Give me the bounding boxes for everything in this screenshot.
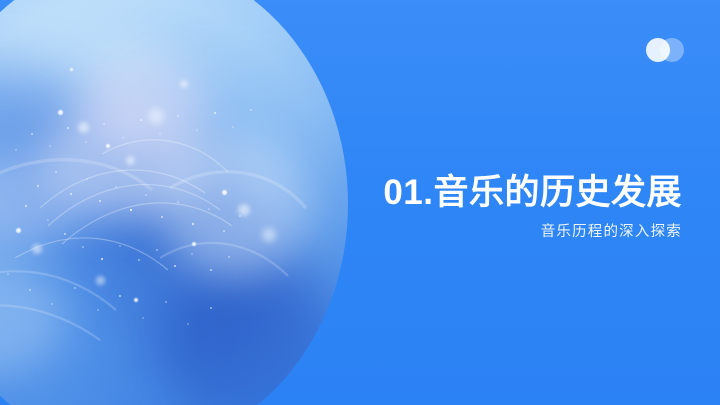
slide-text-block: 01.音乐的历史发展 音乐历程的深入探索	[222, 172, 682, 242]
presentation-slide: 01.音乐的历史发展 音乐历程的深入探索	[0, 0, 720, 405]
overlapping-circles-logo-icon	[646, 38, 684, 62]
page-subtitle: 音乐历程的深入探索	[222, 223, 682, 242]
page-title: 01.音乐的历史发展	[222, 172, 682, 213]
logo-right-circle	[660, 38, 684, 62]
